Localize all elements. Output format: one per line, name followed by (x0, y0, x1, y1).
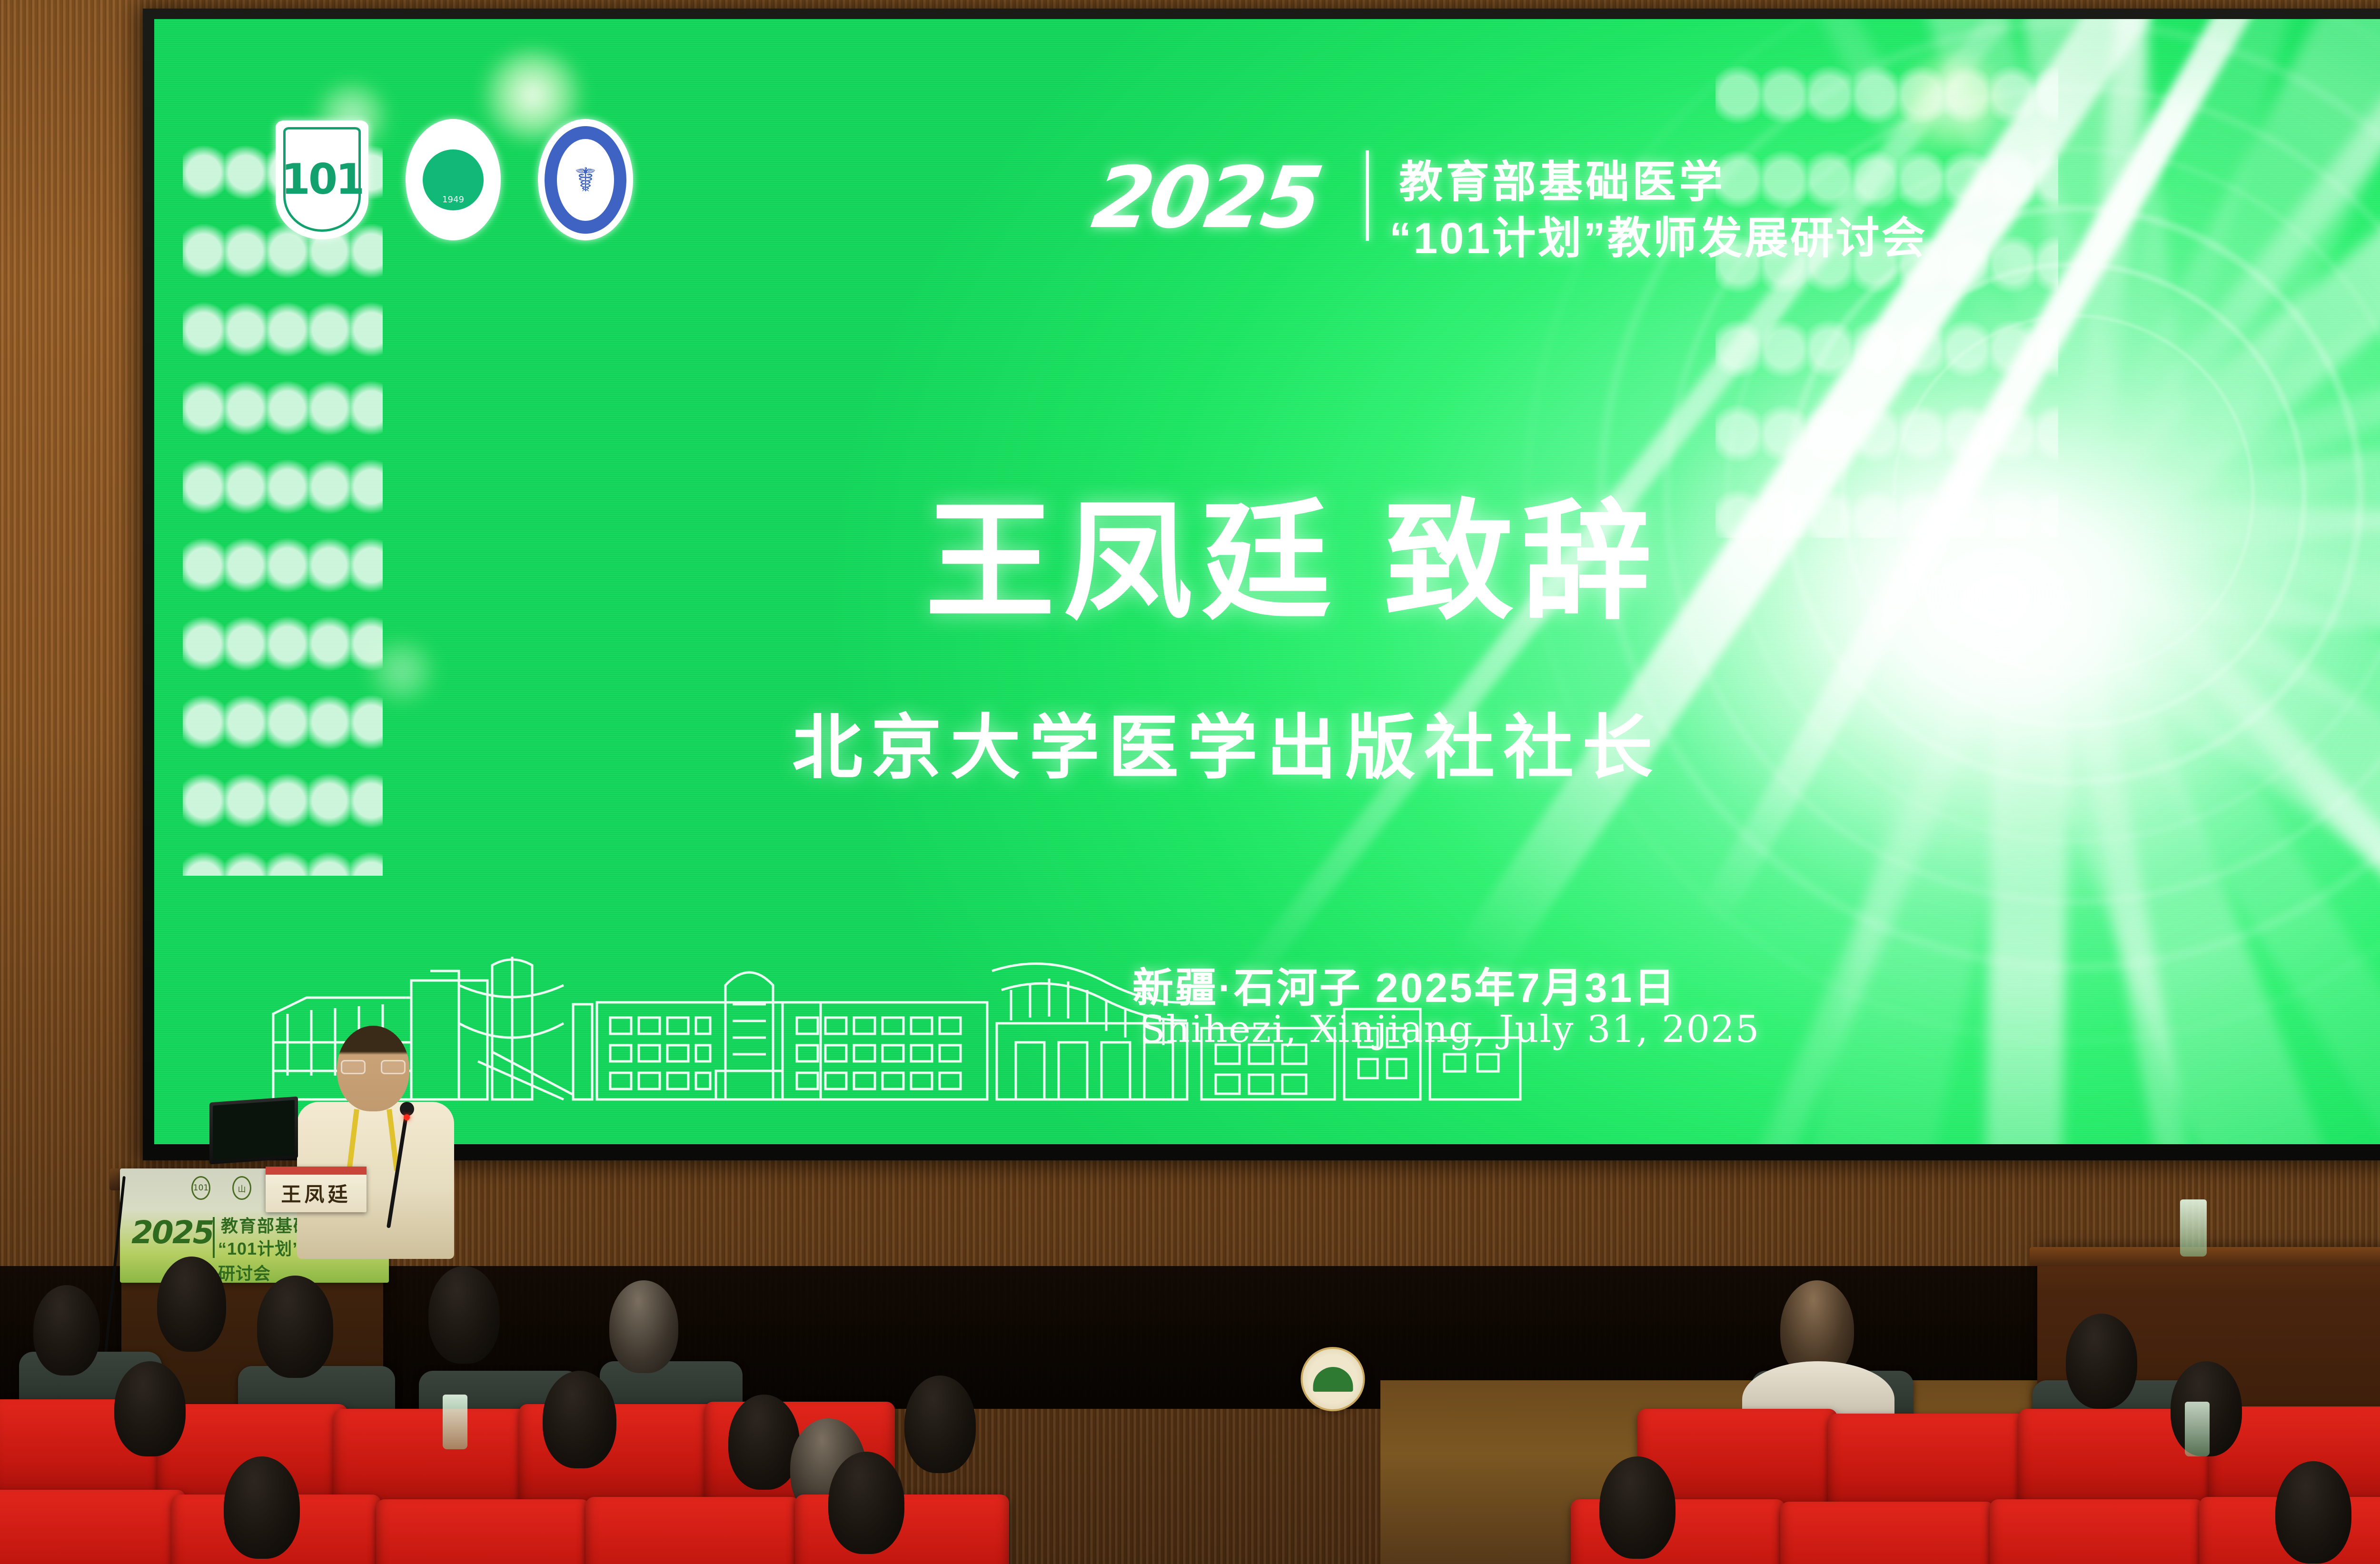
audience-head (114, 1361, 186, 1456)
emblem-mountain-icon (1313, 1367, 1353, 1392)
plan-101-logo-text: 101 (283, 127, 361, 232)
main-title: 王凤廷 致辞 (925, 457, 1660, 644)
audience-head (828, 1452, 904, 1554)
podium-university-emblem (1301, 1347, 1365, 1411)
water-bottle-right-row (2185, 1402, 2210, 1456)
shihezi-university-logo-year: 1949 (423, 149, 484, 210)
audience-seat (585, 1497, 800, 1564)
header-divider (1366, 150, 1369, 241)
audience-head (904, 1376, 976, 1473)
logo-row: 101 1949 ☤ (276, 119, 633, 240)
speaker-name: 王凤廷 (281, 1178, 351, 1208)
audience-seat (0, 1490, 186, 1564)
eyeglasses-icon (341, 1060, 406, 1075)
plan-101-logo: 101 (276, 120, 368, 239)
audience-head (428, 1266, 500, 1364)
audience-head (609, 1280, 678, 1373)
podium-logo-university: 山 (232, 1176, 251, 1200)
podium-logo-101: 101 (191, 1176, 210, 1200)
audience-head (2066, 1314, 2137, 1409)
audience-head (728, 1395, 800, 1490)
light-blob-4 (364, 638, 440, 704)
speaker-at-podium: 王凤廷 (289, 1026, 461, 1249)
header-year: 2025 (1087, 148, 1327, 247)
dot-grid-right (1716, 52, 2058, 538)
audience-head (224, 1456, 300, 1559)
water-bottle-aisle (443, 1395, 467, 1449)
audience-head (543, 1371, 616, 1468)
water-bottle-right (2180, 1199, 2207, 1257)
audience-head (1599, 1456, 1676, 1559)
nameplate-red-strip (266, 1167, 367, 1175)
sub-title: 北京大学医学出版社社长 (792, 690, 1661, 792)
podium-banner-divider (213, 1217, 215, 1258)
header-line-1: 教育部基础医学 (1399, 147, 1725, 210)
microphone-led-indicator (404, 1114, 410, 1120)
audience-head (257, 1276, 333, 1378)
speaker-nameplate: 王凤廷 (266, 1167, 367, 1212)
podium-banner-year: 2025 (131, 1214, 213, 1251)
audience-head (33, 1285, 100, 1376)
audience-head (2275, 1461, 2351, 1564)
laptop-screen (213, 1100, 295, 1161)
shihezi-university-school-of-medicine-logo: ☤ (538, 119, 633, 240)
audience-seat (1780, 1502, 1994, 1564)
header-line-2: “101计划”教师发展研讨会 (1389, 203, 1927, 266)
podium-laptop (209, 1096, 298, 1164)
led-screen: 101 1949 ☤ 2025 教育部基础医学 “101计划”教师发展研讨会 王… (154, 19, 2380, 1144)
shihezi-university-logo: 1949 (406, 119, 501, 240)
audience-seat (1990, 1499, 2204, 1564)
audience-seat (376, 1499, 590, 1564)
audience-head (157, 1257, 226, 1352)
rod-of-asclepius-icon: ☤ (557, 139, 614, 221)
light-blob-3 (1892, 52, 2011, 152)
auditorium-scene: 101 1949 ☤ 2025 教育部基础医学 “101计划”教师发展研讨会 王… (0, 0, 2380, 1564)
dot-grid-left (183, 133, 383, 876)
medicine-logo-ring: ☤ (545, 126, 626, 234)
